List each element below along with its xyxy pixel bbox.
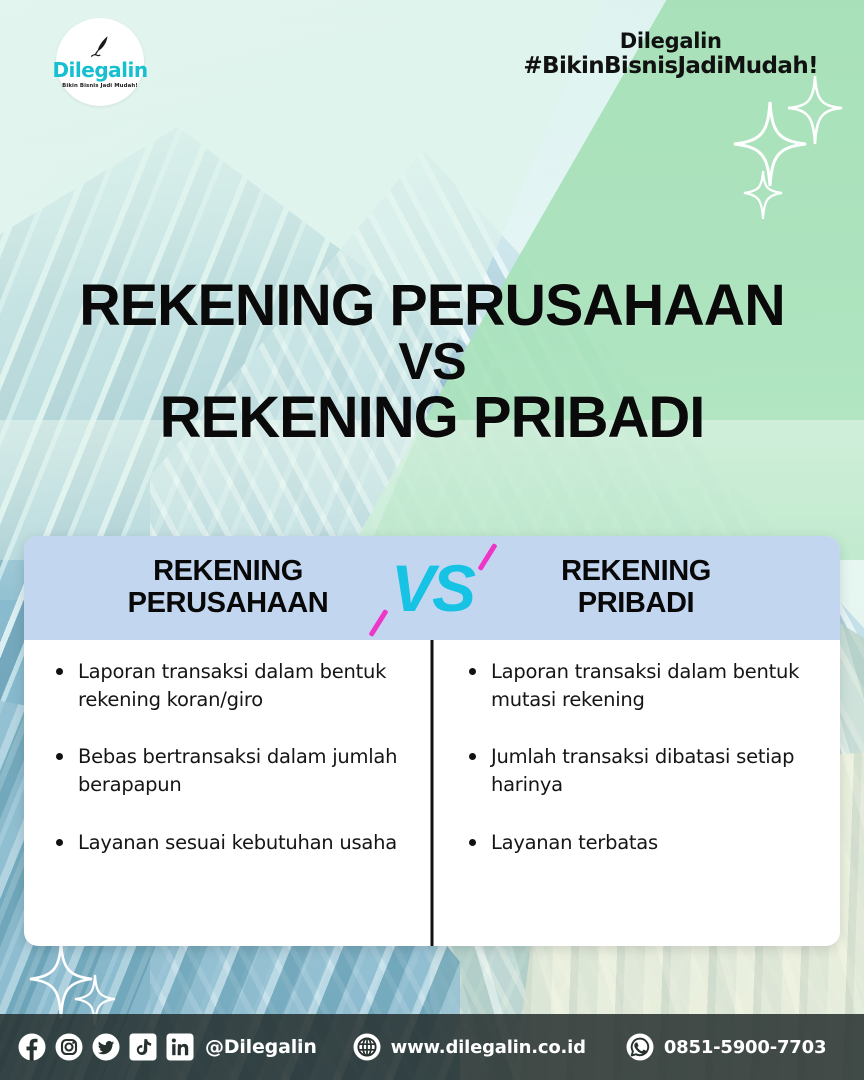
title-line-2: VS — [0, 338, 864, 388]
title-line-3: REKENING PRIBADI — [0, 390, 864, 446]
column-header-left-line2: PERUSAHAAN — [40, 588, 416, 620]
vs-label: VS — [391, 555, 473, 621]
brand-hashtag-block: Dilegalin #BikinBisnisJadiMudah! — [523, 30, 818, 79]
brand-hashtag: #BikinBisnisJadiMudah! — [523, 54, 818, 80]
column-header-right-line1: REKENING — [561, 555, 711, 587]
twitter-icon[interactable] — [92, 1033, 120, 1061]
column-header-left-line1: REKENING — [153, 555, 303, 587]
social-icons-group — [18, 1033, 194, 1061]
logo-wordmark: Dilegalin — [52, 60, 147, 80]
comparison-body: Laporan transaksi dalam bentuk rekening … — [24, 640, 840, 946]
list-item: Layanan terbatas — [467, 829, 820, 857]
column-right: Laporan transaksi dalam bentuk mutasi re… — [433, 640, 840, 946]
list-item: Laporan transaksi dalam bentuk mutasi re… — [467, 658, 820, 713]
vs-slash-bottom-left — [368, 609, 388, 637]
sparkle-icon-tiny — [741, 168, 785, 222]
page-title: REKENING PERUSAHAAN VS REKENING PRIBADI — [0, 278, 864, 445]
website-item[interactable]: www.dilegalin.co.id — [353, 1033, 586, 1061]
footer-bar: @Dilegalin www.dilegalin.co.id — [0, 1014, 864, 1080]
vs-badge: VS — [362, 536, 502, 640]
linkedin-icon[interactable] — [166, 1033, 194, 1061]
vs-slash-top-right — [477, 543, 497, 571]
brand-logo: Dilegalin Bikin Bisnis Jadi Mudah! — [56, 18, 144, 106]
list-item: Bebas bertransaksi dalam jumlah berapapu… — [54, 743, 407, 798]
sparkle-icon-small — [784, 72, 846, 148]
logo-tagline: Bikin Bisnis Jadi Mudah! — [62, 83, 138, 89]
points-list-left: Laporan transaksi dalam bentuk rekening … — [54, 658, 407, 856]
list-item: Jumlah transaksi dibatasi setiap harinya — [467, 743, 820, 798]
website-label: www.dilegalin.co.id — [391, 1037, 586, 1058]
social-handle[interactable]: @Dilegalin — [205, 1036, 317, 1058]
column-divider — [431, 640, 434, 946]
list-item: Laporan transaksi dalam bentuk rekening … — [54, 658, 407, 713]
infographic-poster: Dilegalin Bikin Bisnis Jadi Mudah! Dileg… — [0, 0, 864, 1080]
whatsapp-icon — [626, 1033, 654, 1061]
instagram-icon[interactable] — [55, 1033, 83, 1061]
column-left: Laporan transaksi dalam bentuk rekening … — [24, 640, 433, 946]
phone-label: 0851-5900-7703 — [664, 1037, 826, 1058]
comparison-header: REKENING PERUSAHAAN REKENING PRIBADI VS — [24, 536, 840, 640]
comparison-card: REKENING PERUSAHAAN REKENING PRIBADI VS … — [24, 536, 840, 946]
phone-item[interactable]: 0851-5900-7703 — [626, 1033, 826, 1061]
facebook-icon[interactable] — [18, 1033, 46, 1061]
tiktok-icon[interactable] — [129, 1033, 157, 1061]
list-item: Layanan sesuai kebutuhan usaha — [54, 829, 407, 857]
globe-icon — [353, 1033, 381, 1061]
points-list-right: Laporan transaksi dalam bentuk mutasi re… — [467, 658, 820, 856]
column-header-right-line2: PRIBADI — [448, 588, 824, 620]
title-line-1: REKENING PERUSAHAAN — [4, 278, 859, 334]
brand-name: Dilegalin — [523, 30, 818, 54]
